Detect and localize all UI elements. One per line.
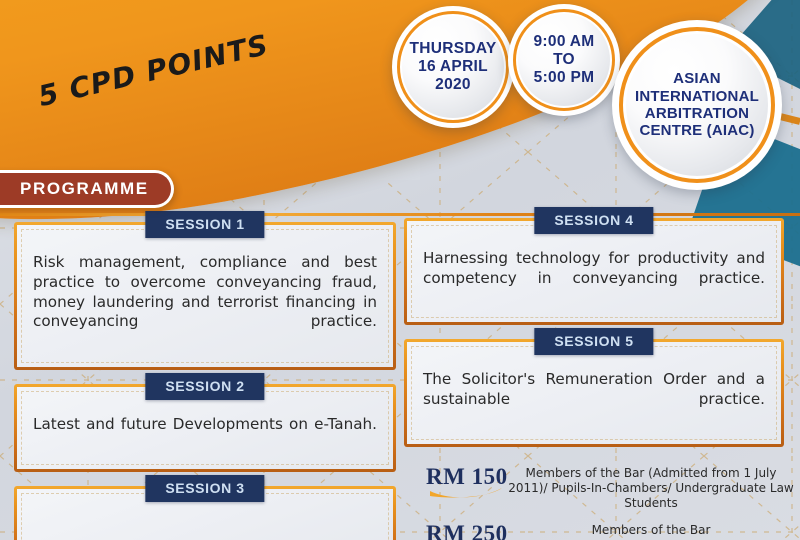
programme-banner: PROGRAMME — [0, 170, 174, 208]
session-card: SESSION 2 Latest and future Developments… — [14, 384, 396, 472]
fee-row: RM 250 Members of the Bar — [404, 521, 794, 540]
sessions-column-left: SESSION 1 Risk management, compliance an… — [14, 222, 396, 540]
programme-label: PROGRAMME — [20, 179, 149, 199]
sessions-column-right: SESSION 4 Harnessing technology for prod… — [404, 218, 784, 461]
session-text: Harnessing technology for productivity a… — [423, 249, 765, 308]
badge-time: 9:00 AM TO 5:00 PM — [508, 4, 620, 116]
badge-venue: ASIAN INTERNATIONAL ARBITRATION CENTRE (… — [612, 20, 782, 190]
badge-venue-line1: ASIAN — [635, 70, 759, 87]
badge-time-line3: 5:00 PM — [534, 69, 595, 87]
badge-time-line1: 9:00 AM — [534, 33, 595, 51]
fee-price: RM 250 — [404, 521, 508, 540]
badge-venue-line2: INTERNATIONAL — [635, 88, 759, 105]
session-card: SESSION 3 — [14, 486, 396, 540]
session-card: SESSION 1 Risk management, compliance an… — [14, 222, 396, 370]
session-badge: SESSION 4 — [534, 207, 653, 234]
fees-section: RM 150 Members of the Bar (Admitted from… — [404, 464, 794, 540]
session-text: Risk management, compliance and best pra… — [33, 253, 377, 352]
session-badge: SESSION 5 — [534, 328, 653, 355]
session-card: SESSION 4 Harnessing technology for prod… — [404, 218, 784, 325]
gold-divider — [0, 213, 800, 216]
session-text — [33, 517, 377, 537]
fee-row: RM 150 Members of the Bar (Admitted from… — [404, 464, 794, 511]
poster-canvas: 5 CPD POINTS THURSDAY 16 APRIL 2020 9:00… — [0, 0, 800, 540]
fee-amount: RM 250 — [426, 521, 508, 540]
fee-price: RM 150 — [404, 464, 508, 490]
badge-venue-line3: ARBITRATION — [635, 105, 759, 122]
fee-description: Members of the Bar — [508, 521, 794, 538]
session-badge: SESSION 3 — [145, 475, 264, 502]
fee-description: Members of the Bar (Admitted from 1 July… — [508, 464, 794, 511]
swoosh-icon — [428, 487, 506, 501]
badge-date-line3: 2020 — [409, 76, 496, 94]
session-card: SESSION 5 The Solicitor's Remuneration O… — [404, 339, 784, 446]
badge-date-line1: THURSDAY — [409, 40, 496, 58]
session-badge: SESSION 1 — [145, 211, 264, 238]
badge-date-line2: 16 APRIL — [409, 58, 496, 76]
badge-venue-line4: CENTRE (AIAC) — [635, 122, 759, 139]
session-text: Latest and future Developments on e-Tana… — [33, 415, 377, 455]
session-text: The Solicitor's Remuneration Order and a… — [423, 370, 765, 429]
badge-date: THURSDAY 16 APRIL 2020 — [392, 6, 514, 128]
session-badge: SESSION 2 — [145, 373, 264, 400]
badge-time-line2: TO — [534, 51, 595, 69]
